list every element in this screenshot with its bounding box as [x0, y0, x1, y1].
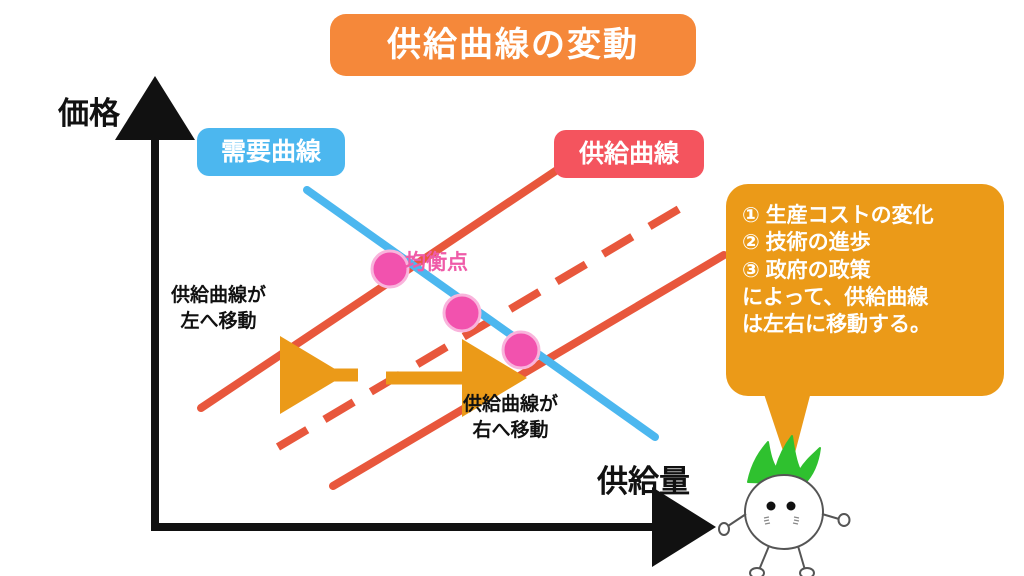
bubble-line-3: ③ 政府の政策	[742, 257, 990, 284]
bubble-line-5: は左右に移動する。	[742, 311, 990, 338]
bubble-line-1: ① 生産コストの変化	[742, 202, 990, 229]
mascot-foot-left	[750, 568, 764, 576]
bubble-line-4: によって、供給曲線	[742, 284, 990, 311]
mascot-leg-right	[798, 546, 805, 570]
mascot-hand-right	[839, 514, 850, 526]
mascot-leg-left	[759, 546, 769, 570]
mascot-arm-right	[822, 514, 839, 519]
mascot-foot-right	[800, 568, 814, 576]
bubble-line-2: ② 技術の進歩	[742, 229, 990, 256]
mascot-eye-right-icon	[787, 502, 796, 511]
mascot-eye-left-icon	[767, 502, 776, 511]
diagram-canvas: 供給曲線の変動 需要曲線 供給曲線 価格 供給量 均衡点 供給曲線が 左へ移動 …	[0, 0, 1024, 576]
turnip-mascot-icon	[706, 420, 876, 576]
mascot-arm-left	[728, 514, 746, 526]
speech-bubble: ① 生産コストの変化 ② 技術の進歩 ③ 政府の政策 によって、供給曲線 は左右…	[726, 184, 1004, 396]
mascot-hand-left	[719, 523, 729, 535]
mascot-body	[745, 475, 823, 549]
